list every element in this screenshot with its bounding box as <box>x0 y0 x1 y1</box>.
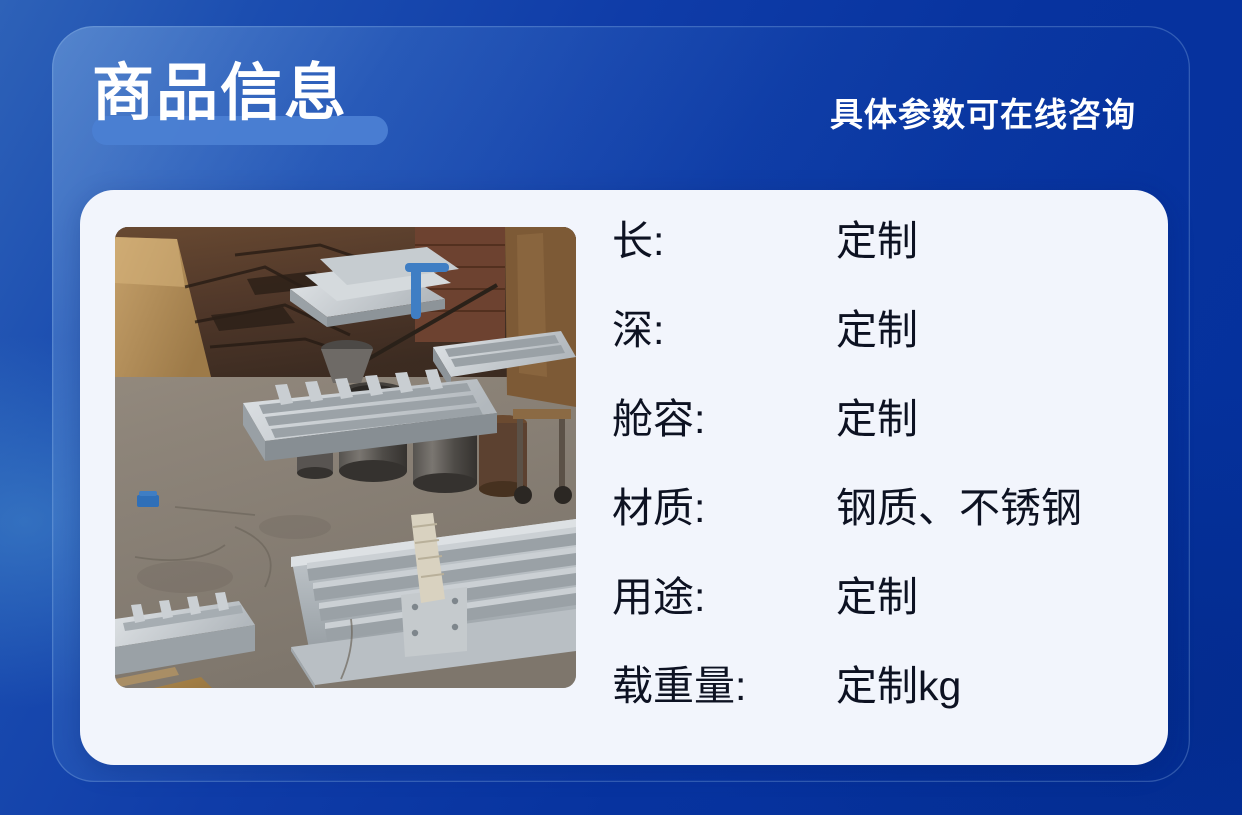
spec-label: 长: <box>612 216 836 266</box>
spec-row: 材质: 钢质、不锈钢 <box>612 479 1152 537</box>
spec-value: 定制kg <box>836 661 961 711</box>
product-photo <box>115 227 576 688</box>
page-title: 商品信息 <box>92 58 348 144</box>
spec-value: 定制 <box>836 216 918 266</box>
poster-canvas: 商品信息 具体参数可在线咨询 <box>0 0 1242 815</box>
spec-value: 定制 <box>836 572 918 622</box>
spec-row: 长: 定制 <box>612 212 1152 270</box>
spec-row: 载重量: 定制kg <box>612 657 1152 715</box>
product-photo-image <box>115 227 576 688</box>
product-info-card: 长: 定制 深: 定制 舱容: 定制 材质: 钢质、不锈钢 用途: 定制 载重量… <box>80 190 1168 765</box>
spec-label: 舱容: <box>612 394 836 444</box>
spec-value: 钢质、不锈钢 <box>836 483 1082 533</box>
spec-label: 深: <box>612 305 836 355</box>
spec-value: 定制 <box>836 394 918 444</box>
spec-label: 载重量: <box>612 661 836 711</box>
spec-row: 用途: 定制 <box>612 568 1152 626</box>
spec-label: 用途: <box>612 572 836 622</box>
spec-value: 定制 <box>836 305 918 355</box>
spec-row: 舱容: 定制 <box>612 390 1152 448</box>
spec-label: 材质: <box>612 483 836 533</box>
page-title-text: 商品信息 <box>92 58 348 130</box>
spec-row: 深: 定制 <box>612 301 1152 359</box>
spec-list: 长: 定制 深: 定制 舱容: 定制 材质: 钢质、不锈钢 用途: 定制 载重量… <box>612 212 1152 742</box>
header: 商品信息 具体参数可在线咨询 <box>0 0 1242 190</box>
header-subtitle: 具体参数可在线咨询 <box>830 95 1136 135</box>
